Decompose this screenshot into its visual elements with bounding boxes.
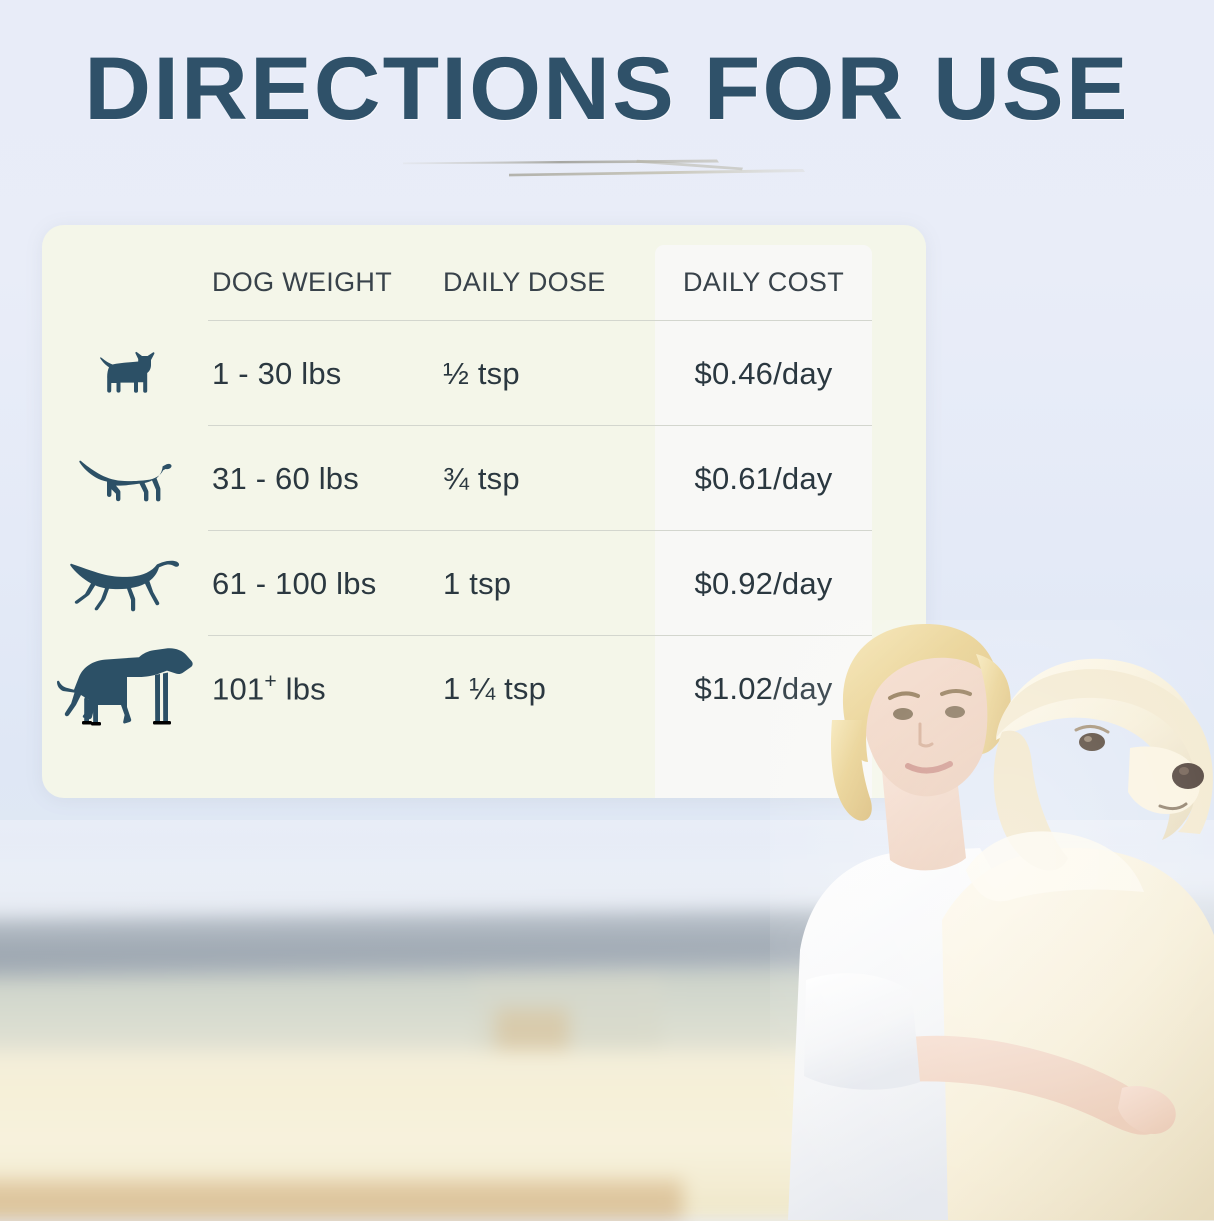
column-header-daily-dose: DAILY DOSE <box>443 267 655 298</box>
small-terrier-dog-icon <box>42 348 208 400</box>
cell-dog-weight: 31 - 60 lbs <box>208 461 443 497</box>
giant-great-dane-dog-icon <box>42 647 208 731</box>
zigzag-divider-ornament-icon <box>397 149 817 189</box>
cell-daily-dose: ¾ tsp <box>443 461 655 497</box>
header-block: DIRECTIONS FOR USE <box>0 44 1214 189</box>
weight-value: 101 <box>212 671 264 706</box>
weight-plus-superscript: + <box>264 670 277 693</box>
table-row: 31 - 60 lbs ¾ tsp $0.61/day <box>42 426 926 531</box>
cell-dog-weight: 61 - 100 lbs <box>208 566 443 602</box>
cell-daily-cost: $0.92/day <box>655 566 872 602</box>
background-deck <box>0 1179 683 1221</box>
cell-dog-weight: 101+ lbs <box>208 670 443 707</box>
column-header-daily-cost: DAILY COST <box>655 267 872 298</box>
page-title: DIRECTIONS FOR USE <box>0 44 1214 133</box>
column-header-dog-weight: DOG WEIGHT <box>208 267 443 298</box>
cell-daily-dose: 1 tsp <box>443 566 655 602</box>
woman-hugging-golden-retriever-photo <box>770 620 1214 1220</box>
cell-daily-cost: $0.46/day <box>655 356 872 392</box>
table-header-row: DOG WEIGHT DAILY DOSE DAILY COST <box>42 243 926 321</box>
medium-beagle-dog-icon <box>42 451 208 507</box>
table-row: 1 - 30 lbs ½ tsp $0.46/day <box>42 321 926 426</box>
cell-daily-dose: 1 ¼ tsp <box>443 671 655 707</box>
large-pointer-dog-icon <box>42 554 208 614</box>
weight-unit: lbs <box>277 671 326 706</box>
cell-daily-dose: ½ tsp <box>443 356 655 392</box>
cell-dog-weight: 1 - 30 lbs <box>208 356 443 392</box>
cell-daily-cost: $0.61/day <box>655 461 872 497</box>
